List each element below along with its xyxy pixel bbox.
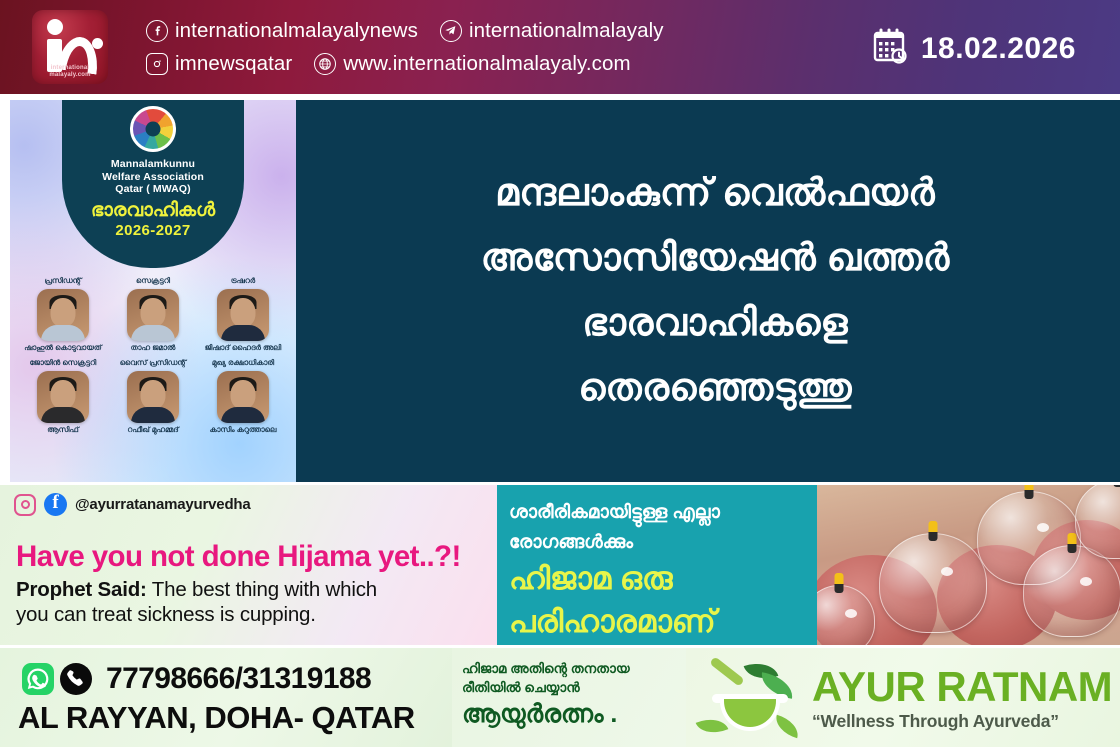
social-telegram-label: internationalmalayaly [469, 19, 664, 43]
headline-line-4: തെരഞ്ഞെടുത്തു [578, 356, 851, 421]
brand-name: AYUR RATNAM [812, 664, 1112, 710]
whatsapp-icon [22, 663, 54, 695]
mwaq-emblem-icon [130, 106, 176, 152]
teal-line-4: പരിഹാരമാണ് [509, 600, 807, 643]
member-role: വൈസ് പ്രസിഡന്റ് [111, 358, 195, 368]
poster-member: സെക്രട്ടറി താഹ ജമാൽ [111, 276, 195, 352]
malayalam-note-panel[interactable]: ഹിജാമ അതിന്റെ തനതായ രീതിയിൽ ചെയ്യാൻ ആയുർ… [452, 648, 686, 747]
teal-ad-panel[interactable]: ശാരീരികമായിട്ടുള്ള എല്ലാ രോഗങ്ങൾക്കും ഹി… [497, 485, 817, 648]
page-header: international malayaly.com international… [0, 0, 1120, 94]
poster-member: ട്രഷറർ ജിഷാദ് ഹൈദർ അലി [201, 276, 285, 352]
contact-numbers: 77798666/31319188 [106, 662, 371, 696]
social-website[interactable]: www.internationalmalayaly.com [314, 52, 630, 76]
ad-prophet-quote: Prophet Said: The best thing with which … [16, 577, 377, 627]
article-inner: Mannalamkunnu Welfare Association Qatar … [10, 100, 1120, 482]
brand-text: AYUR RATNAM “Wellness Through Ayurveda” [812, 664, 1112, 732]
member-photo [217, 289, 269, 341]
member-role: മുഖ്യ രക്ഷാധികാരി [201, 358, 285, 368]
social-telegram[interactable]: internationalmalayaly [440, 19, 664, 43]
poster-member: മുഖ്യ രക്ഷാധികാരി കാസിം കറുത്താലെ [201, 358, 285, 434]
member-photo [37, 371, 89, 423]
ad-row-top: @ayurratanamayurvedha Have you not done … [0, 485, 1120, 648]
header-date-text: 18.02.2026 [921, 32, 1076, 66]
header-social-row-1: internationalmalayalynews internationalm… [146, 14, 686, 47]
member-photo [37, 289, 89, 341]
ad-social-handle[interactable]: @ayurratanamayurvedha [14, 493, 251, 516]
advertisement-block[interactable]: @ayurratanamayurvedha Have you not done … [0, 485, 1120, 747]
logo-dot-icon [47, 19, 63, 35]
telegram-icon [440, 20, 462, 42]
poster-header-panel: Mannalamkunnu Welfare Association Qatar … [62, 100, 244, 268]
brand-tagline: “Wellness Through Ayurveda” [812, 711, 1112, 732]
note-line-1: ഹിജാമ അതിന്റെ തനതായ [462, 659, 680, 678]
member-name: കാസിം കറുത്താലെ [201, 425, 285, 434]
poster-org-line-3: Qatar ( MWAQ) [62, 183, 244, 196]
association-poster[interactable]: Mannalamkunnu Welfare Association Qatar … [10, 100, 296, 482]
teal-line-2: രോഗങ്ങൾക്കും [509, 527, 807, 557]
note-line-2: രീതിയിൽ ചെയ്യാൻ [462, 678, 680, 697]
member-name: ആസിഫ് [21, 425, 105, 434]
member-role: സെക്രട്ടറി [111, 276, 195, 286]
social-facebook[interactable]: internationalmalayalynews [146, 19, 418, 43]
instagram-icon [14, 494, 36, 516]
logo-caption: international malayaly.com [32, 65, 108, 79]
contact-location: AL RAYYAN, DOHA- QATAR [18, 700, 415, 736]
ad-prophet-quote-2: you can treat sickness is cupping. [16, 603, 316, 626]
ad-question-headline: Have you not done Hijama yet..?! [16, 540, 461, 574]
header-social-links: internationalmalayalynews internationalm… [146, 14, 686, 80]
header-social-row-2: imnewsqatar www.internationalmalayaly.co… [146, 47, 686, 80]
member-photo [127, 289, 179, 341]
hijama-ad-panel[interactable]: @ayurratanamayurvedha Have you not done … [0, 485, 497, 648]
cupping-therapy-photo [817, 485, 1120, 648]
ad-row-bottom: 77798666/31319188 AL RAYYAN, DOHA- QATAR… [0, 648, 1120, 747]
site-logo[interactable]: international malayaly.com [32, 10, 108, 84]
poster-org-line-1: Mannalamkunnu [62, 158, 244, 171]
member-photo [127, 371, 179, 423]
globe-icon [314, 53, 336, 75]
social-facebook-label: internationalmalayalynews [175, 19, 418, 43]
brand-panel[interactable]: AYUR RATNAM “Wellness Through Ayurveda” [686, 648, 1120, 747]
facebook-icon [146, 20, 168, 42]
mortar-pestle-leaf-icon [698, 659, 802, 737]
poster-member-grid: പ്രസിഡന്റ് ഷാഹുൽ കൊടുവായത് സെക്രട്ടറി താ… [18, 276, 288, 440]
member-name: ജിഷാദ് ഹൈദർ അലി [201, 343, 285, 352]
member-role: ജോയിൻ സെക്രട്ടറി [21, 358, 105, 368]
poster-malayalam-title: ഭാരവാഹികൾ [62, 200, 244, 222]
ad-handle-text: @ayurratanamayurvedha [75, 496, 251, 513]
teal-line-1: ശാരീരികമായിട്ടുള്ള എല്ലാ [509, 497, 807, 527]
note-line-3: ആയുർരത്നം . [462, 699, 680, 729]
facebook-icon [44, 493, 67, 516]
calendar-icon [872, 27, 908, 70]
member-photo [217, 371, 269, 423]
social-instagram-label: imnewsqatar [175, 52, 292, 76]
instagram-icon [146, 53, 168, 75]
social-instagram[interactable]: imnewsqatar [146, 52, 292, 76]
ad-prophet-label: Prophet Said: [16, 578, 147, 601]
phone-icon [60, 663, 92, 695]
teal-line-3: ഹിജാമ ഒരു [509, 557, 807, 600]
poster-member: പ്രസിഡന്റ് ഷാഹുൽ കൊടുവായത് [21, 276, 105, 352]
article-hero: Mannalamkunnu Welfare Association Qatar … [0, 94, 1120, 485]
member-name: താഹ ജമാൽ [111, 343, 195, 352]
poster-member-row: ജോയിൻ സെക്രട്ടറി ആസിഫ് വൈസ് പ്രസിഡന്റ് റ… [18, 358, 288, 434]
ad-prophet-quote-1: The best thing with which [147, 578, 377, 601]
contact-panel[interactable]: 77798666/31319188 AL RAYYAN, DOHA- QATAR [0, 648, 452, 747]
poster-member-row: പ്രസിഡന്റ് ഷാഹുൽ കൊടുവായത് സെക്രട്ടറി താ… [18, 276, 288, 352]
header-date: 18.02.2026 [872, 27, 1076, 70]
contact-phone-line: 77798666/31319188 [22, 662, 371, 696]
member-name: ഷാഹുൽ കൊടുവായത് [21, 343, 105, 352]
poster-org-line-2: Welfare Association [62, 171, 244, 184]
social-website-label: www.internationalmalayaly.com [343, 52, 630, 76]
member-role: ട്രഷറർ [201, 276, 285, 286]
article-headline: മന്ദലാംകുന്ന് വെൽഫയർ അസോസിയേഷൻ ഖത്തർ ഭാര… [310, 100, 1120, 482]
poster-member: ജോയിൻ സെക്രട്ടറി ആസിഫ് [21, 358, 105, 434]
headline-line-2: അസോസിയേഷൻ ഖത്തർ [481, 226, 950, 291]
poster-member: വൈസ് പ്രസിഡന്റ് റഫീഖ് മുഹമ്മദ് [111, 358, 195, 434]
headline-line-1: മന്ദലാംകുന്ന് വെൽഫയർ [495, 161, 935, 226]
member-role: പ്രസിഡന്റ് [21, 276, 105, 286]
headline-line-3: ഭാരവാഹികളെ [582, 291, 848, 356]
poster-year: 2026-2027 [62, 222, 244, 239]
member-name: റഫീഖ് മുഹമ്മദ് [111, 425, 195, 434]
logo-dot2-icon [92, 38, 103, 49]
